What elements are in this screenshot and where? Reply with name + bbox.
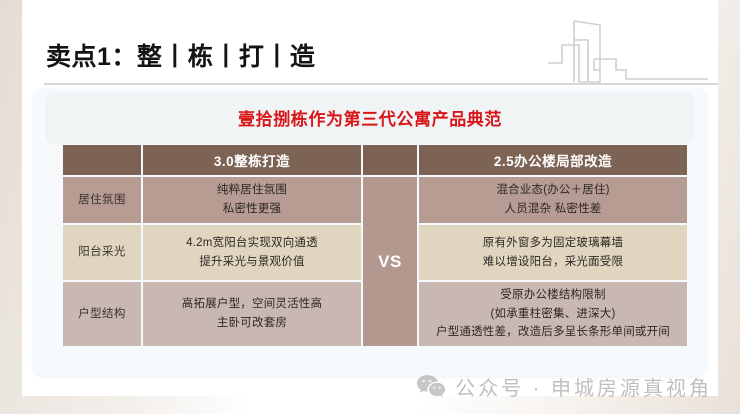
detail-line: 提升采光与景观价值	[143, 253, 361, 272]
row-right-detail: 原有外窗多为固定玻璃幕墙 难以增设阳台，采光面受限	[419, 225, 687, 280]
watermark-text: 公众号 · 申城房源真视角	[455, 372, 712, 401]
watermark: 公众号 · 申城房源真视角	[416, 372, 712, 401]
header-cell-left: 3.0整栋打造	[143, 145, 361, 175]
row-left-detail: 高拓展户型，空间灵活性高 主卧可改套房	[143, 282, 361, 346]
row-label: 阳台采光	[63, 225, 141, 280]
header-cell-right: 2.5办公楼局部改造	[419, 145, 687, 175]
table-header-row: 3.0整栋打造 2.5办公楼局部改造	[63, 145, 687, 175]
building-skyline-icon	[548, 12, 708, 86]
detail-line: 难以增设阳台，采光面受限	[419, 253, 687, 272]
row-left-detail: 纯粹居住氛围 私密性更强	[143, 177, 361, 223]
card-title-wrapper: 壹拾捌栋作为第三代公寓产品典范	[33, 105, 707, 130]
detail-line: 户型通透性差，改造后多呈长条形单间或开间	[419, 323, 687, 342]
page-background: 卖点1：整丨栋丨打丨造 壹拾捌栋作为第三代公寓产品典范	[0, 0, 740, 414]
comparison-card: 壹拾捌栋作为第三代公寓产品典范 3.0整栋打造 2.5办公楼局部改造	[33, 88, 707, 376]
row-right-detail: 混合业态(办公＋居住) 人员混杂 私密性差	[419, 177, 687, 223]
detail-line: 纯粹居住氛围	[143, 181, 361, 200]
vs-badge: VS	[363, 177, 417, 346]
page-footer: 公众号 · 申城房源真视角	[0, 366, 740, 414]
table-row: 居住氛围 纯粹居住氛围 私密性更强 VS 混合业态(办公＋居住) 人员混杂 私密…	[63, 177, 687, 223]
row-label: 居住氛围	[63, 177, 141, 223]
detail-line: 原有外窗多为固定玻璃幕墙	[419, 234, 687, 253]
detail-line: 私密性更强	[143, 200, 361, 219]
row-right-detail: 受原办公楼结构限制 (如承重柱密集、进深大) 户型通透性差，改造后多呈长条形单间…	[419, 282, 687, 346]
header-cell-blank-vs	[363, 145, 417, 175]
wechat-icon	[416, 374, 446, 400]
row-left-detail: 4.2m宽阳台实现双向通透 提升采光与景观价值	[143, 225, 361, 280]
detail-line: 人员混杂 私密性差	[419, 200, 687, 219]
detail-line: 高拓展户型，空间灵活性高	[143, 295, 361, 314]
detail-line: (如承重柱密集、进深大)	[419, 305, 687, 324]
card-title: 壹拾捌栋作为第三代公寓产品典范	[238, 110, 502, 129]
detail-line: 混合业态(办公＋居住)	[419, 181, 687, 200]
detail-line: 4.2m宽阳台实现双向通透	[143, 234, 361, 253]
page-title: 卖点1：整丨栋丨打丨造	[46, 37, 315, 73]
detail-line: 受原办公楼结构限制	[419, 286, 687, 305]
comparison-table: 3.0整栋打造 2.5办公楼局部改造 居住氛围 纯粹居住氛围 私密性更强 VS …	[61, 143, 689, 348]
header-cell-blank-left	[63, 145, 141, 175]
detail-line: 主卧可改套房	[143, 314, 361, 333]
row-label: 户型结构	[63, 282, 141, 346]
page-header: 卖点1：整丨栋丨打丨造	[22, 10, 718, 88]
